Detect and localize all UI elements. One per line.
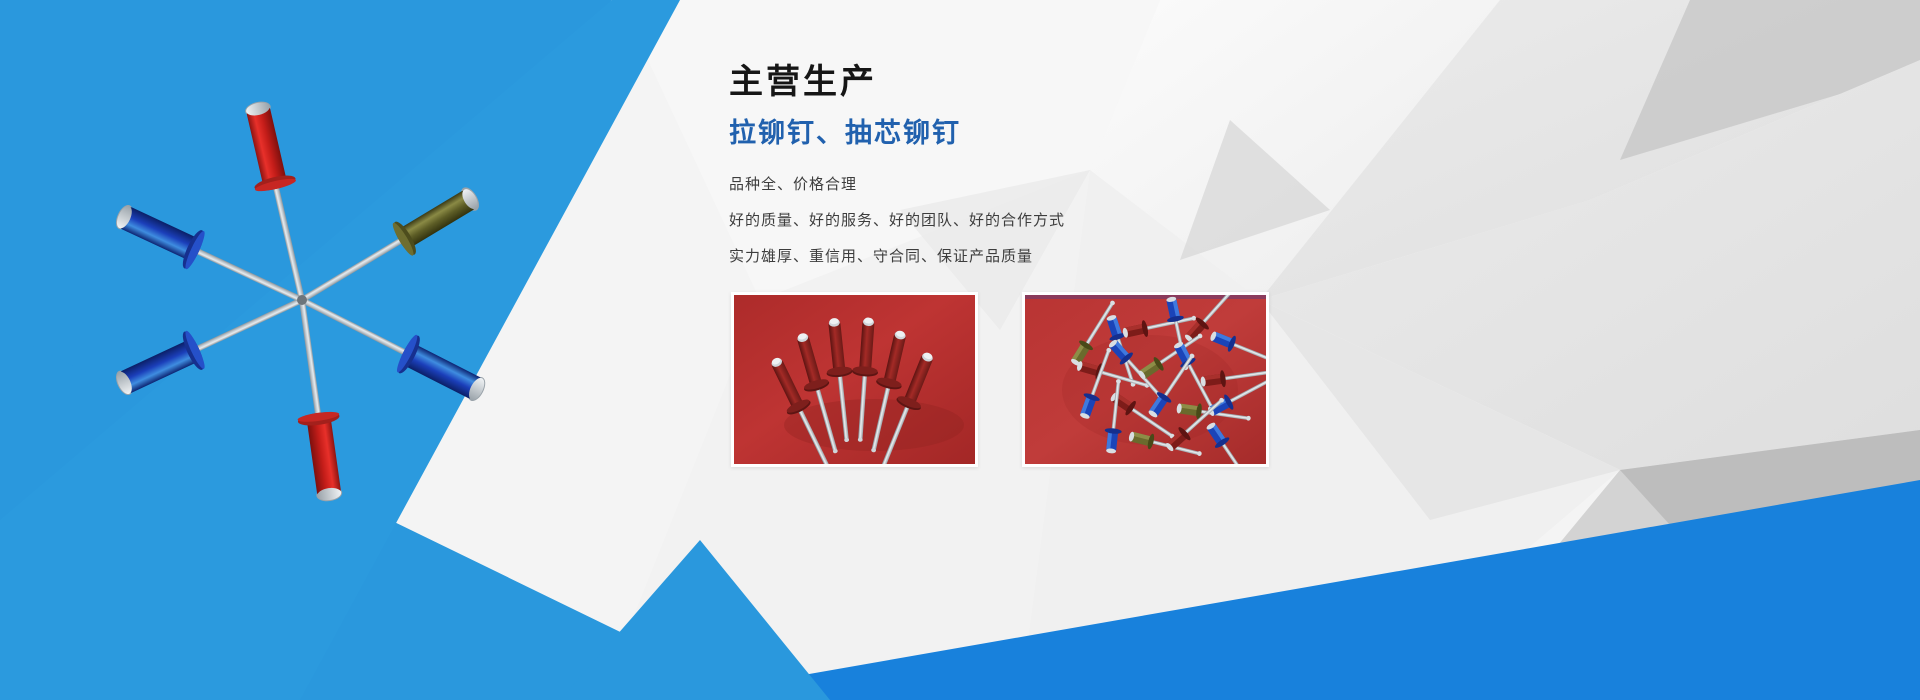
red-rivets-fan-photo[interactable] xyxy=(731,292,978,467)
rivet-upper-right xyxy=(292,179,486,316)
page-subtitle: 拉铆钉、抽芯铆钉 xyxy=(729,117,1349,151)
rivet-right xyxy=(292,281,492,411)
rivet-starburst-graphic xyxy=(40,55,560,565)
page-title: 主营生产 xyxy=(729,62,1349,103)
blue-bottom-band xyxy=(660,480,1920,700)
mixed-rivets-scatter-photo[interactable] xyxy=(1022,292,1269,467)
rivet-lower-left xyxy=(109,281,311,405)
blue-band-joint xyxy=(560,540,830,700)
description-line-3: 实力雄厚、重信用、守合同、保证产品质量 xyxy=(729,245,1349,268)
product-photo-row xyxy=(731,292,1269,467)
red-rivets-fan-image xyxy=(734,295,975,464)
description-line-2: 好的质量、好的服务、好的团队、好的合作方式 xyxy=(729,209,1349,232)
rivet-bottom xyxy=(281,297,351,504)
promo-banner: 主营生产 拉铆钉、抽芯铆钉 品种全、价格合理 好的质量、好的服务、好的团队、好的… xyxy=(0,0,1920,700)
description-line-1: 品种全、价格合理 xyxy=(729,173,1349,196)
mixed-rivets-scatter-image xyxy=(1025,295,1266,464)
text-column: 主营生产 拉铆钉、抽芯铆钉 品种全、价格合理 好的质量、好的服务、好的团队、好的… xyxy=(729,62,1349,268)
